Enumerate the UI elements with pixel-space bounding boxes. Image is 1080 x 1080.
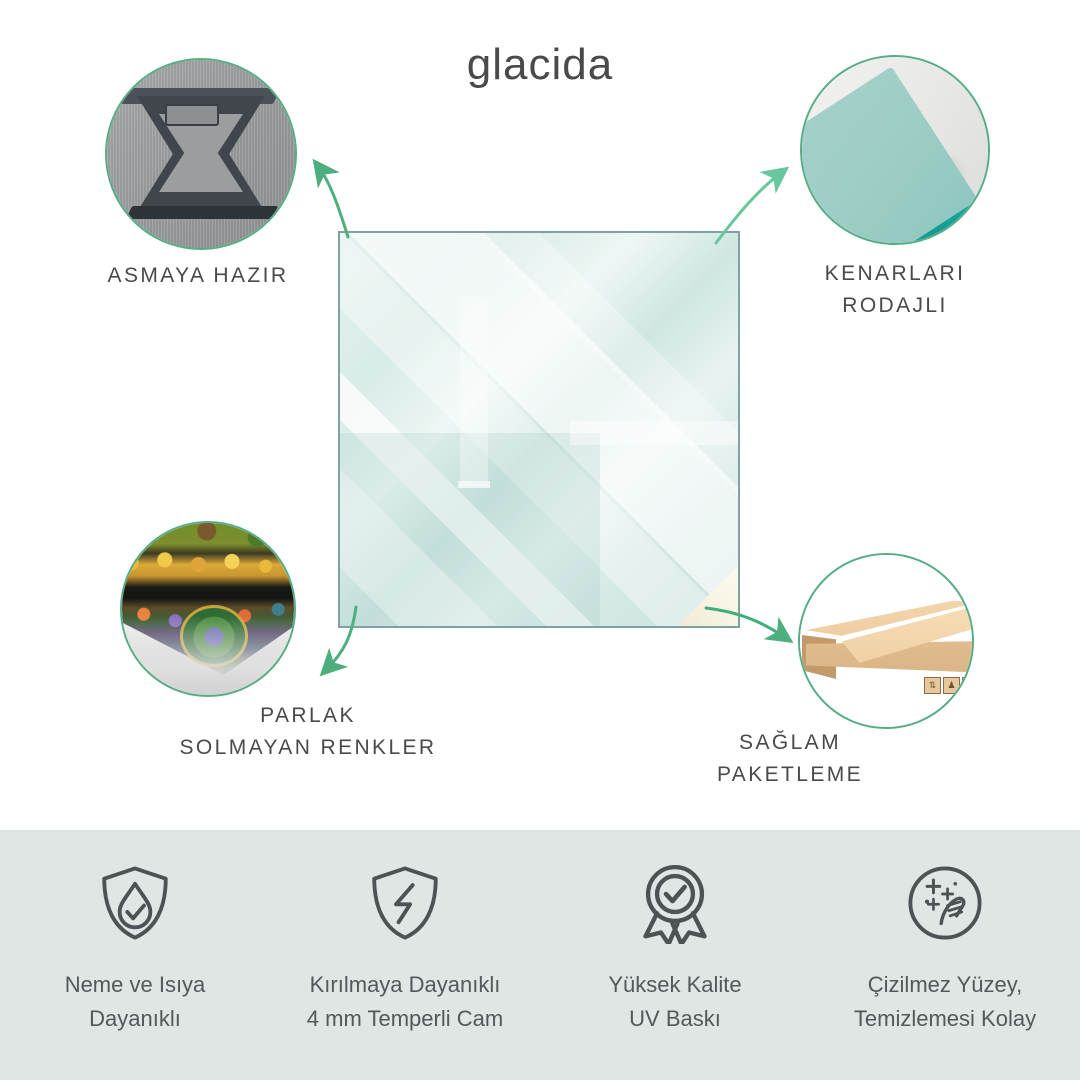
benefit-neme-ve-isiya-dayanikli: Neme ve Isıya Dayanıklı	[0, 830, 270, 1080]
feature-image-asmaya-hazir	[105, 58, 297, 250]
glass-tint-upper	[570, 421, 740, 445]
arrow-to-asmaya-hazir	[318, 166, 348, 237]
glass-window-reflection-bar	[458, 481, 490, 488]
sparkle-wiping-hand-icon	[904, 862, 986, 944]
benefit-label: Çizilmez Yüzey, Temizlemesi Kolay	[854, 968, 1036, 1036]
wall-mount-bracket-photo	[107, 60, 295, 248]
feature-label-parlak-solmayan-renkler: PARLAK SOLMAYAN RENKLER	[148, 700, 468, 764]
infographic-canvas: glacida ASMAYA HAZIR KENARLARI RODAJLI	[0, 0, 1080, 1080]
shield-water-drop-check-icon	[94, 862, 176, 944]
benefit-label: Neme ve Isıya Dayanıklı	[65, 968, 206, 1036]
mosaic-fade	[122, 616, 294, 695]
keep-dry-symbol-icon: ☂	[962, 677, 974, 694]
feature-image-saglam-paketleme: ⇅ ♟ ☂	[798, 553, 974, 729]
benefit-label: Kırılmaya Dayanıklı 4 mm Temperli Cam	[307, 968, 503, 1036]
benefit-yuksek-kalite-uv-baski: Yüksek Kalite UV Baskı	[540, 830, 810, 1080]
shield-lightning-bolt-icon	[364, 862, 446, 944]
feature-label-saglam-paketleme: SAĞLAM PAKETLEME	[640, 727, 940, 791]
shipping-symbols-group: ⇅ ♟ ☂	[924, 677, 974, 694]
benefit-label: Yüksek Kalite UV Baskı	[608, 968, 741, 1036]
quality-badge-check-icon	[634, 862, 716, 944]
benefit-cizilmez-yuzey: Çizilmez Yüzey, Temizlemesi Kolay	[810, 830, 1080, 1080]
stained-glass-mosaic-photo	[122, 523, 294, 695]
feature-image-parlak-solmayan-renkler	[120, 521, 296, 697]
bracket-base-plate	[126, 206, 278, 219]
benefits-bar: Neme ve Isıya Dayanıklı Kırılmaya Dayanı…	[0, 830, 1080, 1080]
glass-window-reflection	[460, 297, 488, 487]
benefit-kirilmaya-dayanikli: Kırılmaya Dayanıklı 4 mm Temperli Cam	[270, 830, 540, 1080]
fragile-symbol-icon: ⇅	[924, 677, 941, 694]
feature-label-asmaya-hazir: ASMAYA HAZIR	[48, 260, 348, 292]
tempered-glass-panel	[338, 231, 740, 628]
cardboard-box-photo: ⇅ ♟ ☂	[800, 555, 972, 727]
feature-image-kenarlari-rodajli	[800, 55, 990, 245]
feature-label-kenarlari-rodajli: KENARLARI RODAJLI	[745, 258, 1045, 322]
polished-glass-edge-photo	[802, 57, 988, 243]
this-side-up-symbol-icon: ♟	[943, 677, 960, 694]
bracket-slot	[165, 104, 219, 126]
